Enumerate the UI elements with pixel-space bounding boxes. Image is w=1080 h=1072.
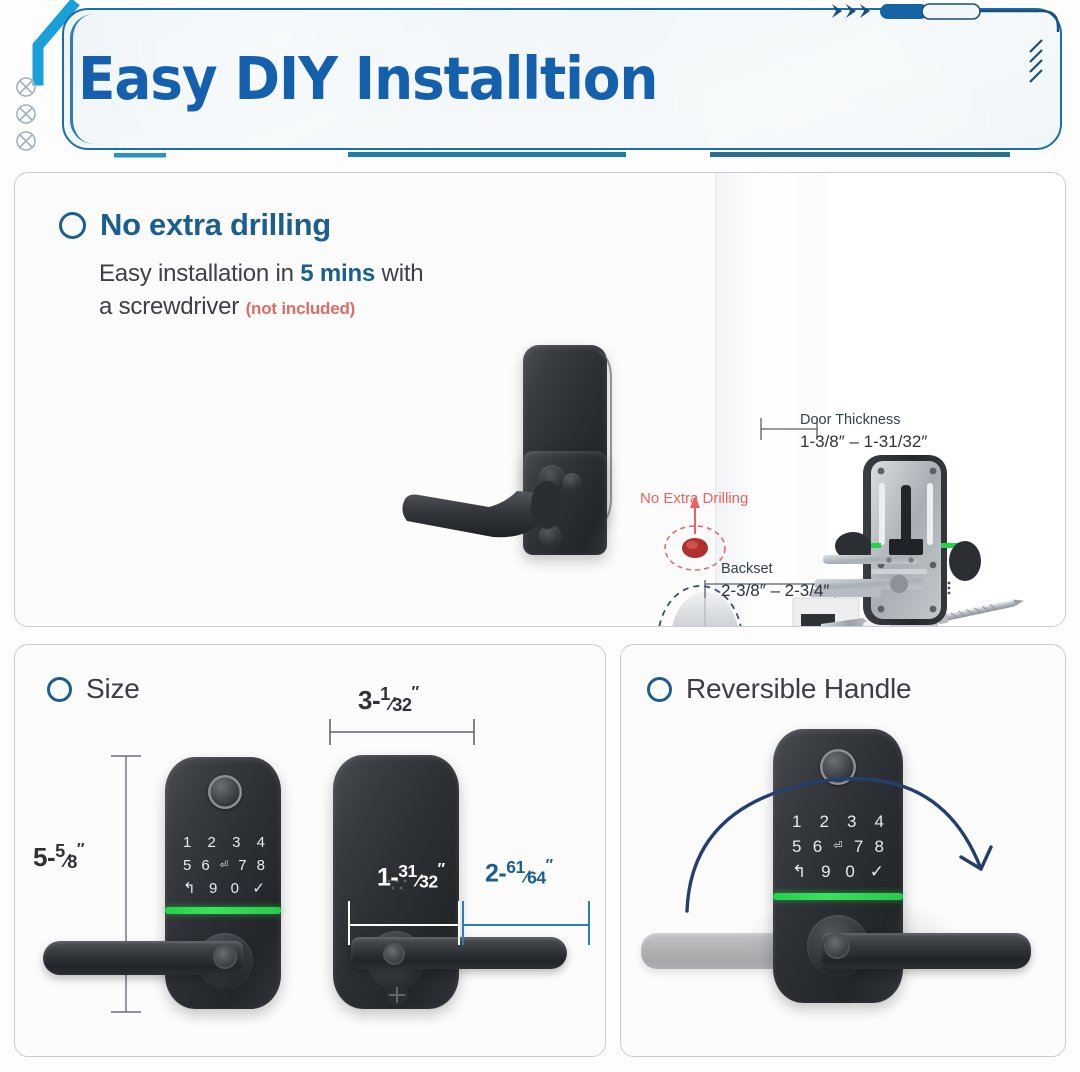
green-indicator-front	[165, 907, 281, 914]
fingerprint-reader	[208, 775, 242, 809]
bullet-ring-icon	[47, 677, 72, 702]
not-included-note: (not included)	[246, 299, 356, 318]
backset-title: Backset	[721, 560, 829, 580]
height-num: 5	[55, 841, 65, 861]
door-thickness-title: Door Thickness	[800, 411, 927, 431]
drilling-card-header: No extra drilling	[59, 207, 331, 243]
depth-back-den: 64	[527, 868, 545, 888]
key-0[interactable]: 0	[231, 877, 239, 900]
handle-heading: Reversible Handle	[686, 673, 911, 705]
depth-front-den: 32	[419, 872, 437, 892]
depth-back-text: 2-61⁄64″	[485, 857, 553, 889]
width-inch: ″	[412, 683, 419, 701]
height-whole: 5-	[33, 842, 55, 872]
key-2[interactable]: 2	[208, 831, 216, 854]
backset-label: Backset 2-3/8″ – 2-3/4″	[721, 560, 829, 603]
card-size: Size 5-5⁄8″ 3-1⁄32″ 1 2 3	[14, 644, 606, 1057]
width-dimension-text: 3-1⁄32″	[358, 683, 419, 716]
front-keyhole	[213, 945, 237, 969]
rear-mounting-plate	[845, 443, 1045, 627]
depth-front-whole: 1-	[377, 864, 398, 892]
keypad-front: 1 2 3 4 5 6 ⏎ 7 8 ↰ 9 0 ✓	[183, 831, 265, 900]
card-no-extra-drilling: No extra drilling Easy installation in 5…	[14, 172, 1066, 627]
header-banner: Easy DIY Installtion	[0, 0, 1080, 165]
infographic-page: Easy DIY Installtion No extra drilling E…	[0, 0, 1080, 1072]
height-den: 8	[67, 852, 77, 872]
screw-head-icon	[9, 76, 43, 156]
size-card-header: Size	[47, 673, 140, 705]
bullet-ring-icon	[59, 212, 86, 239]
key-back[interactable]: ↰	[183, 877, 196, 900]
depth-back-inch: ″	[546, 857, 553, 874]
lock-badge-icon: ⏎	[220, 854, 228, 877]
width-num: 1	[380, 684, 390, 704]
sub-line2: a screwdriver	[99, 293, 246, 320]
depth-front-num: 31	[398, 861, 416, 881]
drilling-subtext-line2: a screwdriver (not included)	[99, 293, 355, 321]
depth-front-inch: ″	[438, 861, 445, 878]
key-7[interactable]: 7	[238, 854, 246, 877]
no-extra-drilling-label: No Extra Drilling	[640, 489, 748, 509]
height-dimension-text: 5-5⁄8″	[33, 840, 84, 873]
page-title: Easy DIY Installtion	[78, 44, 657, 113]
capsule-icon	[830, 0, 1070, 32]
sub-before: Easy installation in	[99, 260, 300, 287]
keypad-row-1[interactable]: 1 2 3 4	[183, 831, 265, 854]
lever-handle-exploded	[397, 463, 577, 573]
width-den: 32	[392, 695, 411, 715]
drilling-heading: No extra drilling	[100, 207, 331, 243]
door-thickness-label: Door Thickness 1-3/8″ – 1-31/32″	[800, 411, 927, 454]
key-6[interactable]: 6	[201, 854, 209, 877]
key-5[interactable]: 5	[183, 854, 191, 877]
depth-back-whole: 2-	[485, 860, 506, 888]
side-screw-cap	[367, 975, 427, 1015]
sub-after: with	[375, 260, 423, 287]
card-reversible-handle: Reversible Handle 1 2 3 4 5 6 ⏎ 7 8 ↰	[620, 644, 1066, 1057]
backset-value: 2-3/8″ – 2-3/4″	[721, 580, 829, 603]
size-heading: Size	[86, 673, 140, 705]
sub-highlight: 5 mins	[300, 260, 375, 287]
width-dimension-line	[327, 717, 477, 747]
door-thickness-value: 1-3/8″ – 1-31/32″	[800, 431, 927, 454]
depth-back-num: 61	[506, 857, 524, 877]
banner-underline-dashes	[100, 150, 1020, 162]
keypad-row-3[interactable]: ↰ 9 0 ✓	[183, 877, 265, 900]
key-3[interactable]: 3	[232, 831, 240, 854]
keypad-row-2[interactable]: 5 6 ⏎ 7 8	[183, 854, 265, 877]
handle-card-header: Reversible Handle	[647, 673, 911, 705]
hatch-lines-icon	[1028, 36, 1058, 96]
depth-dimension-lines	[345, 891, 595, 951]
key-8[interactable]: 8	[257, 854, 265, 877]
height-dimension-line	[107, 753, 143, 1015]
depth-front-text: 1-31⁄32″	[377, 861, 445, 893]
key-confirm[interactable]: ✓	[252, 877, 265, 900]
height-inch: ″	[77, 840, 84, 858]
key-4[interactable]: 4	[257, 831, 265, 854]
width-whole: 3-	[358, 685, 380, 715]
bullet-ring-icon	[647, 677, 672, 702]
key-1[interactable]: 1	[183, 831, 191, 854]
drilling-subtext-line1: Easy installation in 5 mins with	[99, 260, 423, 288]
key-9[interactable]: 9	[209, 877, 217, 900]
reversal-arrow-icon	[661, 711, 1041, 961]
